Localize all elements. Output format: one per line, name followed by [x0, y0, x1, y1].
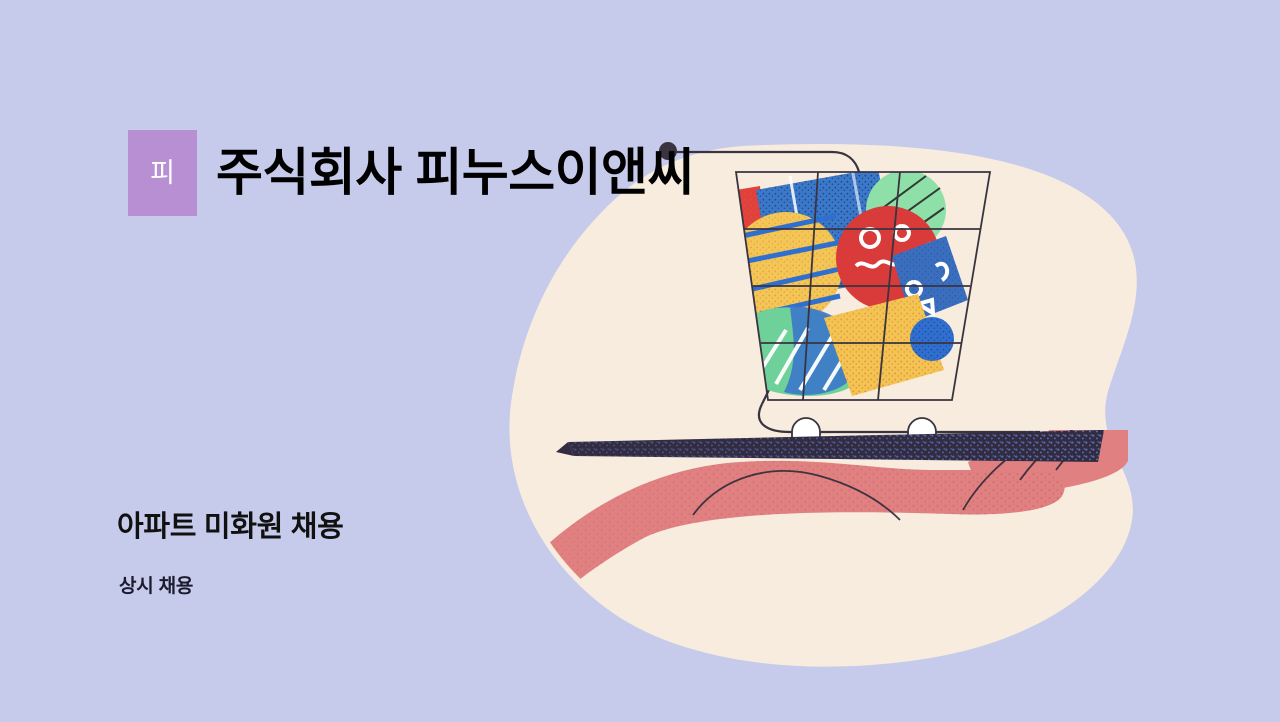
cart-rail-bar	[556, 430, 1104, 462]
company-logo-badge: 피	[128, 130, 197, 216]
job-subtitle: 상시 채용	[119, 571, 193, 598]
cart-basket-frame	[736, 172, 990, 400]
company-name: 주식회사 피누스이앤씨	[216, 130, 694, 216]
arm-shape	[505, 461, 1065, 616]
item-red-pattern-circle	[836, 206, 940, 310]
cream-blob-shape	[509, 144, 1136, 667]
item-blue-dotted-circle	[910, 317, 954, 361]
item-yellow-striped-circle	[730, 212, 844, 324]
company-header: 피 주식회사 피누스이앤씨	[128, 130, 694, 216]
item-green-hatched-blob	[735, 306, 864, 396]
item-blue-speckled-square	[756, 168, 898, 300]
hand-holding-shopping-cart-illustration	[0, 0, 1280, 722]
cart-handle	[670, 152, 1040, 432]
cart-wheels	[792, 418, 936, 442]
company-logo-initial: 피	[150, 160, 175, 187]
item-green-hatched-circle	[866, 170, 946, 250]
hand-fingers	[968, 402, 1155, 496]
job-posting-banner: 피 주식회사 피누스이앤씨 아파트 미화원 채용 상시 채용	[0, 0, 1280, 722]
item-blue-speckled-diamond	[892, 236, 968, 322]
item-yellow-orange-square	[824, 294, 944, 396]
hand-and-arm	[505, 402, 1155, 616]
item-red-torn-shape	[700, 186, 770, 300]
cart-items-group	[700, 168, 968, 396]
job-title: 아파트 미화원 채용	[117, 503, 344, 545]
